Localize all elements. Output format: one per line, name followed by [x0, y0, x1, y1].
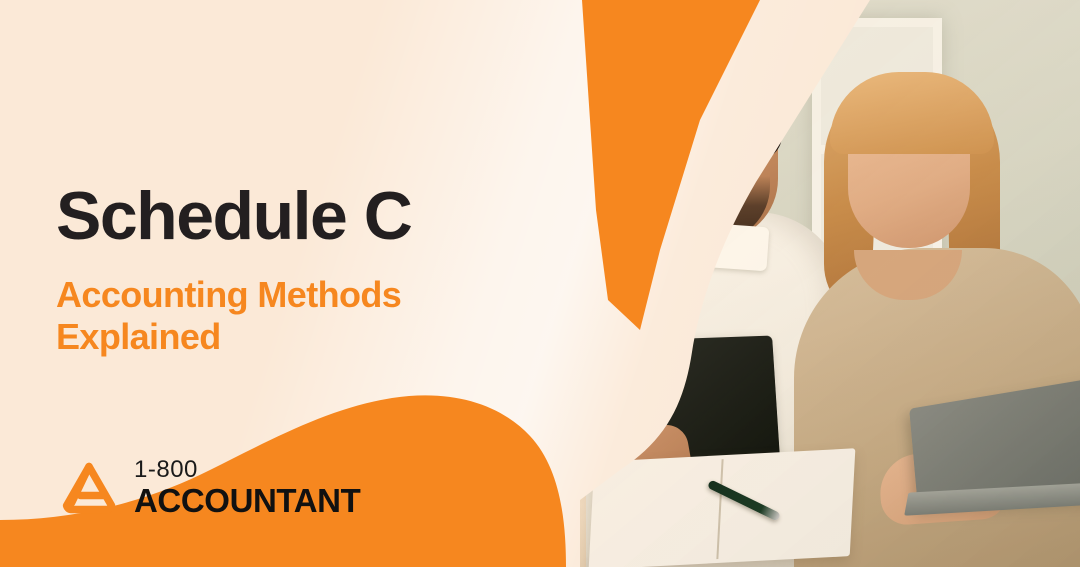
- photo-color-grade: [580, 0, 1080, 567]
- page-subtitle: Accounting Methods Explained: [56, 274, 526, 358]
- page-subtitle-line-1: Accounting Methods: [56, 274, 526, 316]
- potted-plant: [580, 110, 710, 340]
- headline-block: Schedule C Accounting Methods Explained: [56, 182, 526, 358]
- marketing-banner: Schedule C Accounting Methods Explained …: [0, 0, 1080, 567]
- logo-bottom-text: ACCOUNTANT: [134, 484, 360, 517]
- logo-wordmark: 1-800 ACCOUNTANT: [134, 458, 360, 517]
- triangle-a-logo-icon: [58, 459, 120, 517]
- page-title: Schedule C: [56, 182, 526, 250]
- page-subtitle-line-2: Explained: [56, 316, 526, 358]
- hero-photo: [580, 0, 1080, 567]
- logo-top-text: 1-800: [134, 458, 360, 482]
- man-hair: [642, 74, 782, 160]
- brand-logo[interactable]: 1-800 ACCOUNTANT: [58, 458, 360, 517]
